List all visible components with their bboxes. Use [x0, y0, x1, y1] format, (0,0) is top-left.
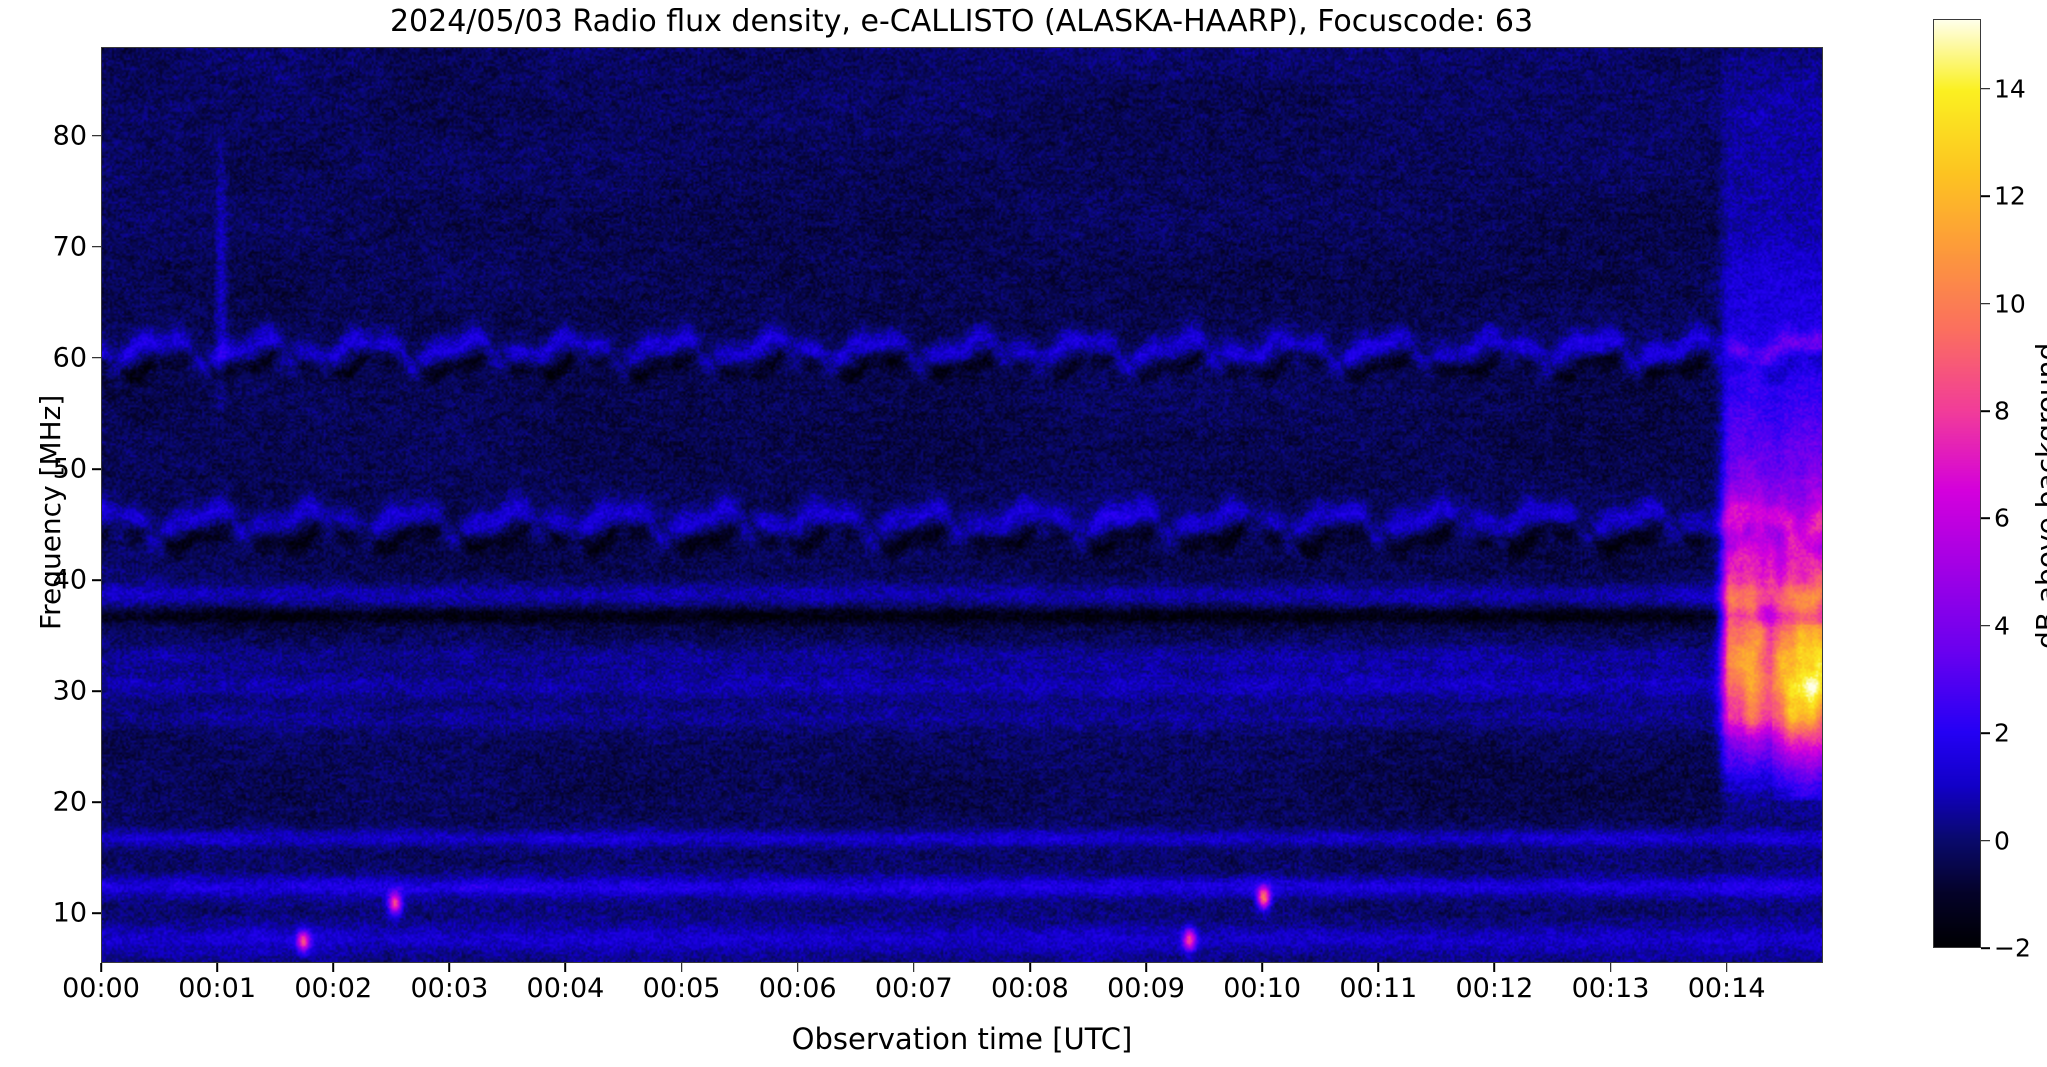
colorbar-tick-label: 6	[1994, 504, 2010, 533]
colorbar-gradient	[1934, 20, 1980, 947]
x-tick-mark	[332, 963, 334, 972]
y-tick-label: 40	[27, 564, 87, 595]
x-tick-mark	[1610, 963, 1612, 972]
chart-title: 2024/05/03 Radio flux density, e-CALLIST…	[100, 4, 1823, 39]
colorbar-tick-label: 4	[1994, 611, 2010, 640]
spectrogram-plot-area	[101, 47, 1823, 963]
colorbar-tick-label: 2	[1994, 719, 2010, 748]
y-tick-label: 20	[27, 787, 87, 818]
x-tick-mark	[449, 963, 451, 972]
colorbar-tick-mark	[1981, 410, 1990, 412]
x-tick-mark	[1261, 963, 1263, 972]
spectrogram-figure: 2024/05/03 Radio flux density, e-CALLIST…	[0, 0, 2047, 1067]
colorbar-tick-mark	[1981, 88, 1990, 90]
y-tick-mark	[92, 135, 101, 137]
x-tick-mark	[1726, 963, 1728, 972]
colorbar-tick-label: 10	[1994, 289, 2026, 318]
colorbar-tick-mark	[1981, 732, 1990, 734]
y-tick-mark	[92, 801, 101, 803]
x-tick-mark	[797, 963, 799, 972]
x-tick-mark	[1145, 963, 1147, 972]
y-tick-label: 50	[27, 453, 87, 484]
colorbar-tick-label: 14	[1994, 74, 2026, 103]
x-tick-label: 00:14	[1647, 973, 1807, 1004]
y-tick-label: 10	[27, 898, 87, 929]
colorbar-tick-mark	[1981, 840, 1990, 842]
y-tick-mark	[92, 357, 101, 359]
y-tick-label: 30	[27, 675, 87, 706]
x-axis-label: Observation time [UTC]	[101, 1022, 1823, 1056]
x-tick-mark	[913, 963, 915, 972]
spectrogram-image	[102, 48, 1822, 962]
y-tick-mark	[92, 246, 101, 248]
colorbar-tick-mark	[1981, 625, 1990, 627]
x-tick-mark	[100, 963, 102, 972]
y-tick-label: 80	[27, 120, 87, 151]
y-tick-label: 70	[27, 231, 87, 262]
colorbar-tick-label: 12	[1994, 182, 2026, 211]
x-tick-mark	[565, 963, 567, 972]
x-tick-mark	[1377, 963, 1379, 972]
y-tick-mark	[92, 912, 101, 914]
colorbar-tick-mark	[1981, 947, 1990, 949]
y-tick-mark	[92, 690, 101, 692]
colorbar-tick-mark	[1981, 518, 1990, 520]
colorbar-tick-mark	[1981, 303, 1990, 305]
y-tick-label: 60	[27, 342, 87, 373]
y-tick-mark	[92, 468, 101, 470]
x-tick-mark	[216, 963, 218, 972]
colorbar-tick-mark	[1981, 195, 1990, 197]
colorbar-label: dB above background	[2030, 342, 2047, 648]
colorbar	[1933, 19, 1981, 948]
x-tick-mark	[681, 963, 683, 972]
colorbar-tick-label: −2	[1994, 934, 2031, 963]
y-tick-mark	[92, 579, 101, 581]
colorbar-tick-label: 0	[1994, 826, 2010, 855]
colorbar-tick-label: 8	[1994, 397, 2010, 426]
x-tick-mark	[1029, 963, 1031, 972]
x-tick-mark	[1494, 963, 1496, 972]
